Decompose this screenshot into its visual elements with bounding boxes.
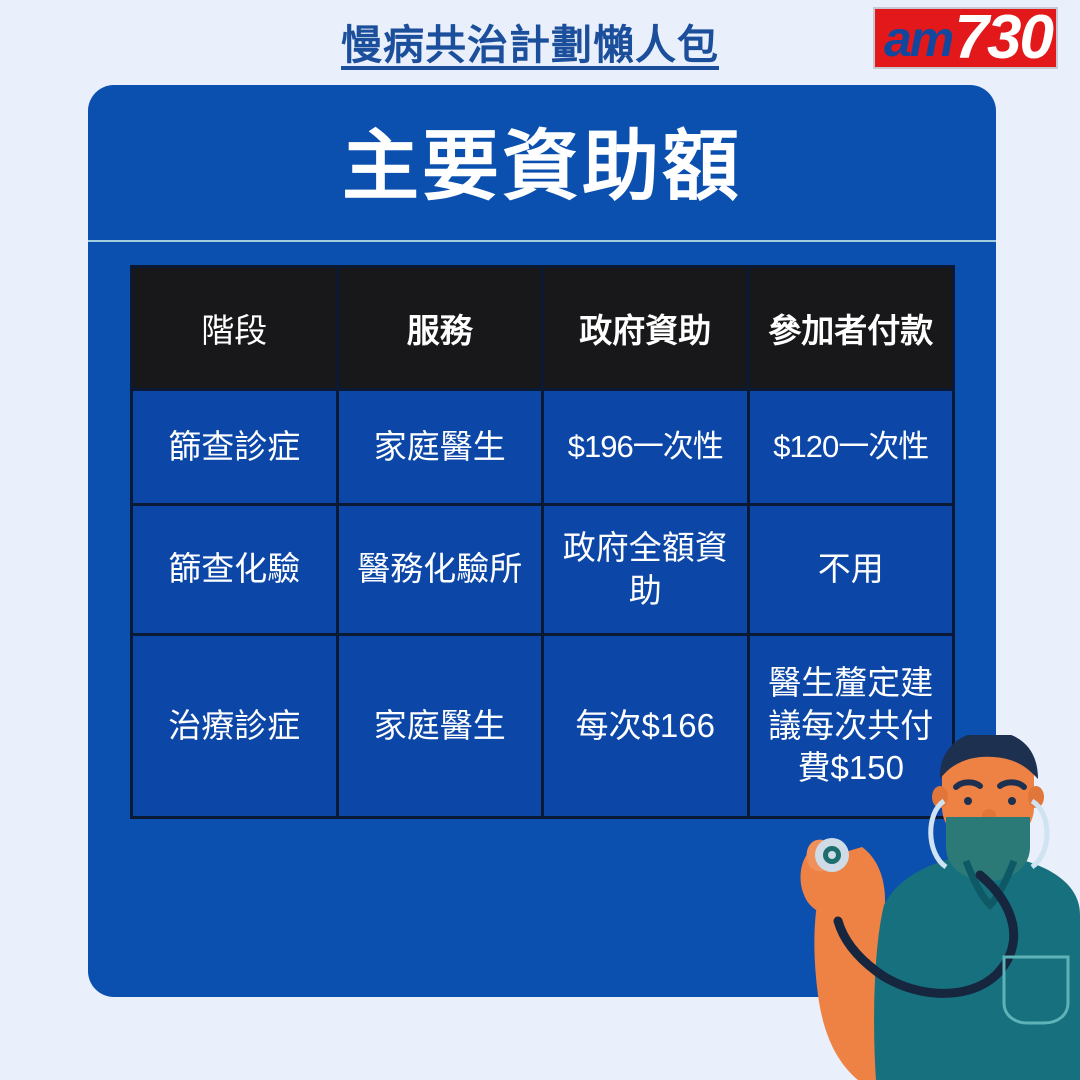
- mask-loop-right: [1032, 801, 1047, 867]
- column-header-service: 服務: [337, 267, 543, 390]
- column-header-participant-payment: 參加者付款: [748, 267, 954, 390]
- table-header: 階段 服務 政府資助 參加者付款: [132, 267, 954, 390]
- cell-subsidy: 政府全額資助: [543, 505, 749, 635]
- column-header-government-subsidy: 政府資助: [543, 267, 749, 390]
- cell-stage: 篩查診症: [132, 390, 338, 505]
- logo-730-text: 730: [955, 7, 1052, 69]
- cell-service: 醫務化驗所: [337, 505, 543, 635]
- cell-stage: 篩查化驗: [132, 505, 338, 635]
- scrubs-pocket: [1004, 957, 1068, 1023]
- table-header-row: 階段 服務 政府資助 參加者付款: [132, 267, 954, 390]
- table-row: 篩查診症 家庭醫生 $196一次性 $120一次性: [132, 390, 954, 505]
- subsidy-table: 階段 服務 政府資助 參加者付款 篩查診症 家庭醫生 $196一次性 $120一…: [130, 265, 955, 819]
- cell-service: 家庭醫生: [337, 635, 543, 818]
- cell-payment: 不用: [748, 505, 954, 635]
- top-header-bar: 慢病共治計劃懶人包 am 730: [0, 0, 1080, 85]
- heading-divider: [88, 240, 996, 242]
- card-heading: 主要資助額: [88, 105, 996, 216]
- logo-am-text: am: [884, 11, 952, 67]
- table-row: 治療診症 家庭醫生 每次$166 醫生釐定建議每次共付費$150: [132, 635, 954, 818]
- cell-payment: $120一次性: [748, 390, 954, 505]
- table-row: 篩查化驗 醫務化驗所 政府全額資助 不用: [132, 505, 954, 635]
- cell-subsidy: 每次$166: [543, 635, 749, 818]
- cell-service: 家庭醫生: [337, 390, 543, 505]
- doctor-eyebrow-right: [1000, 782, 1024, 787]
- cell-payment: 醫生釐定建議每次共付費$150: [748, 635, 954, 818]
- am730-logo: am 730: [873, 7, 1058, 69]
- main-info-card: 主要資助額 階段 服務 政府資助 參加者付款 篩查診症 家庭醫生 $196一次性…: [88, 85, 996, 997]
- cell-stage: 治療診症: [132, 635, 338, 818]
- doctor-eye-right: [1008, 797, 1016, 805]
- table-body: 篩查診症 家庭醫生 $196一次性 $120一次性 篩查化驗 醫務化驗所 政府全…: [132, 390, 954, 818]
- doctor-ear-right: [1028, 786, 1044, 808]
- cell-subsidy: $196一次性: [543, 390, 749, 505]
- column-header-stage: 階段: [132, 267, 338, 390]
